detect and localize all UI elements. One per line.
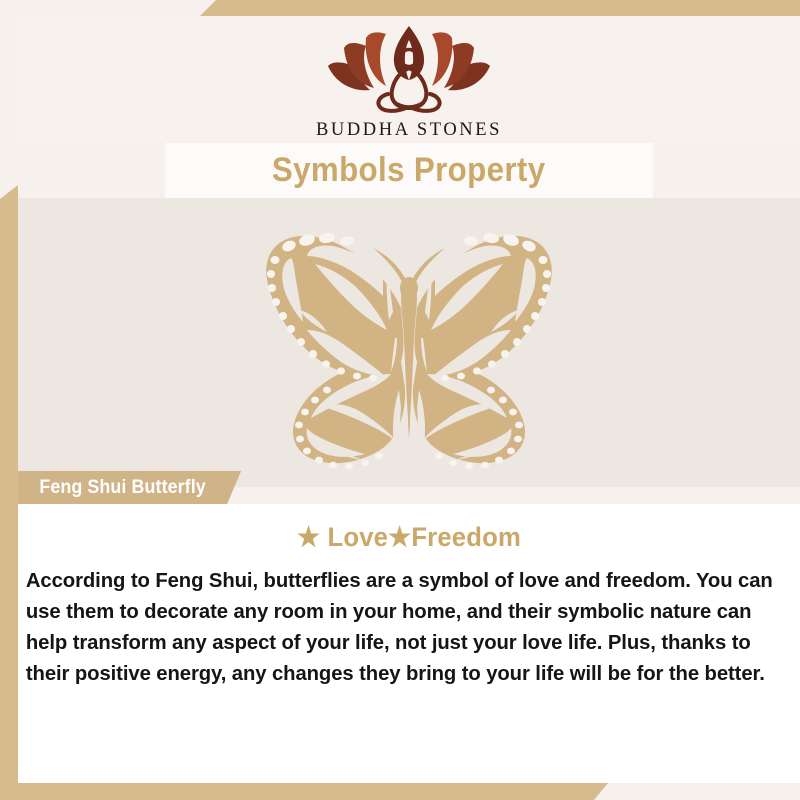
description-paragraph: According to Feng Shui, butterflies are … — [18, 553, 788, 689]
gold-accent-band-left — [0, 185, 18, 800]
page-root: BUDDHA STONES Symbols Property — [0, 0, 800, 800]
subtitle-love-freedom: ★ Love★Freedom — [38, 504, 781, 553]
gold-accent-band-top — [200, 0, 800, 16]
description-section: ★ Love★Freedom According to Feng Shui, b… — [18, 504, 800, 783]
category-label-text: Feng Shui Butterfly — [39, 477, 205, 499]
monarch-butterfly-icon — [223, 212, 595, 474]
illustration-panel — [18, 198, 800, 487]
title-banner: Symbols Property — [165, 143, 653, 198]
brand-name: BUDDHA STONES — [18, 120, 800, 141]
brand-logo: BUDDHA STONES — [18, 22, 800, 141]
gold-accent-band-bottom — [0, 783, 608, 800]
brand-header: BUDDHA STONES — [18, 16, 800, 143]
lotus-meditation-figure-icon — [314, 22, 504, 118]
content-card: BUDDHA STONES Symbols Property — [18, 16, 800, 783]
category-label-tab: Feng Shui Butterfly — [18, 471, 241, 504]
page-title: Symbols Property — [272, 151, 546, 190]
